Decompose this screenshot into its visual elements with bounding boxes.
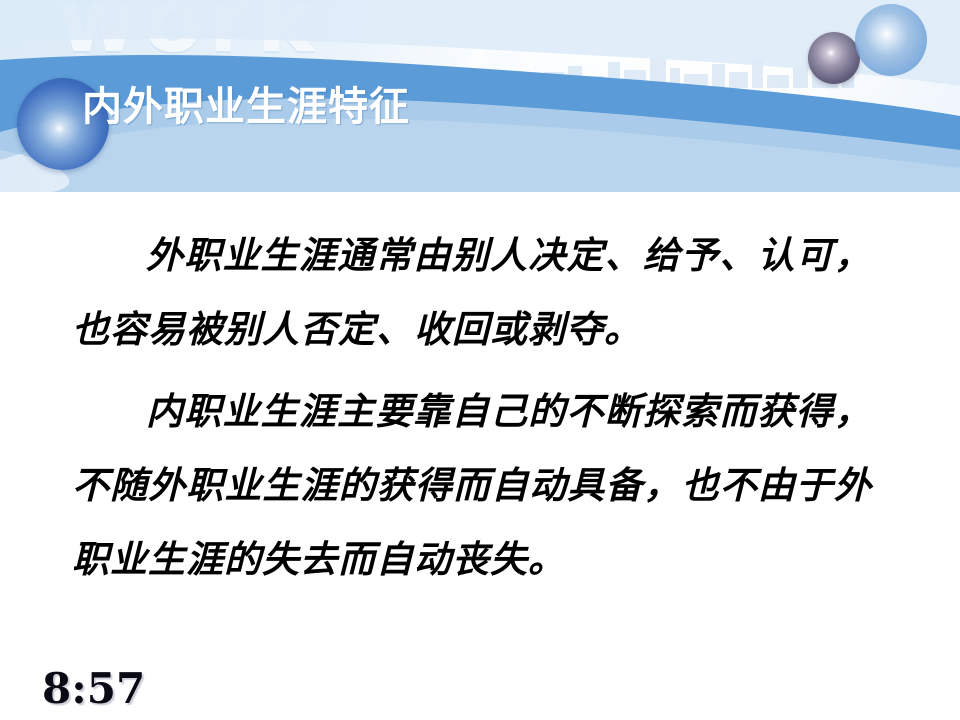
body-paragraph: 内职业生涯主要靠自己的不断探索而获得，不随外职业生涯的获得而自动具备，也不由于外… <box>72 374 872 596</box>
translucent-blue-sphere-icon <box>855 4 927 76</box>
slide-body: 外职业生涯通常由别人决定、给予、认可，也容易被别人否定、收回或剥夺。 内职业生涯… <box>72 218 872 596</box>
body-paragraph: 外职业生涯通常由别人决定、给予、认可，也容易被别人否定、收回或剥夺。 <box>72 218 872 366</box>
presentation-slide: work <box>0 0 960 720</box>
gray-sphere-icon <box>808 32 860 84</box>
page-title: 内外职业生涯特征 <box>82 74 410 132</box>
slide-header-banner: work <box>0 0 960 192</box>
clock-time: 8:57 <box>42 664 145 713</box>
